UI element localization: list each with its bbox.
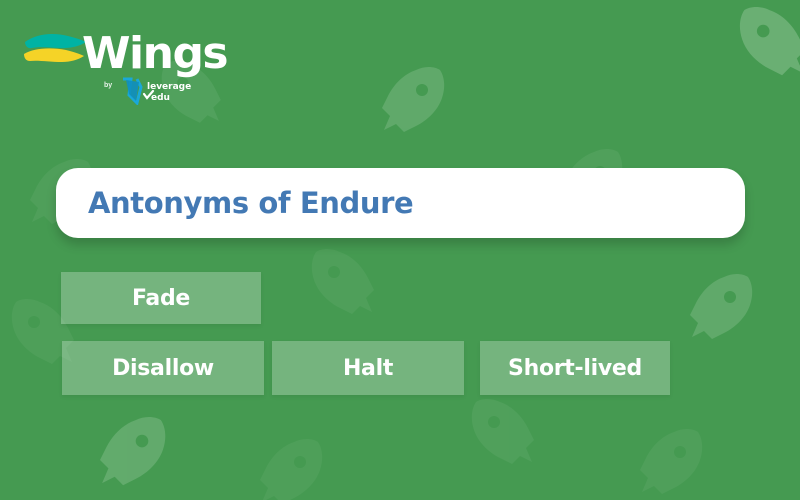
rocket-icon [260, 439, 322, 500]
antonym-chip[interactable]: Fade [61, 272, 261, 324]
antonym-chip-label: Short-lived [508, 356, 642, 381]
antonym-chip[interactable]: Disallow [62, 341, 264, 395]
antonym-chip[interactable]: Short-lived [480, 341, 670, 395]
leverage-edu-logo: leverage edu [117, 77, 197, 105]
antonym-chip-label: Fade [132, 286, 190, 311]
rocket-icon [100, 417, 165, 485]
title-card: Antonyms of Endure [56, 168, 745, 238]
rocket-icon [690, 274, 752, 339]
rocket-icon [312, 249, 374, 314]
rocket-icon [640, 429, 702, 494]
page-title: Antonyms of Endure [88, 186, 413, 220]
wing-icon [22, 30, 88, 70]
logo-by-label: by [104, 82, 112, 89]
rocket-icon [740, 7, 800, 75]
antonym-chip-label: Disallow [112, 356, 214, 381]
edu-text: edu [151, 93, 170, 103]
antonym-chip-label: Halt [343, 356, 393, 381]
rocket-icon [472, 399, 534, 464]
logo-wordmark: Wings [82, 32, 227, 76]
rocket-icon [382, 67, 444, 132]
brand-logo[interactable]: Wings by leverage edu [22, 22, 232, 107]
antonym-chip[interactable]: Halt [272, 341, 464, 395]
